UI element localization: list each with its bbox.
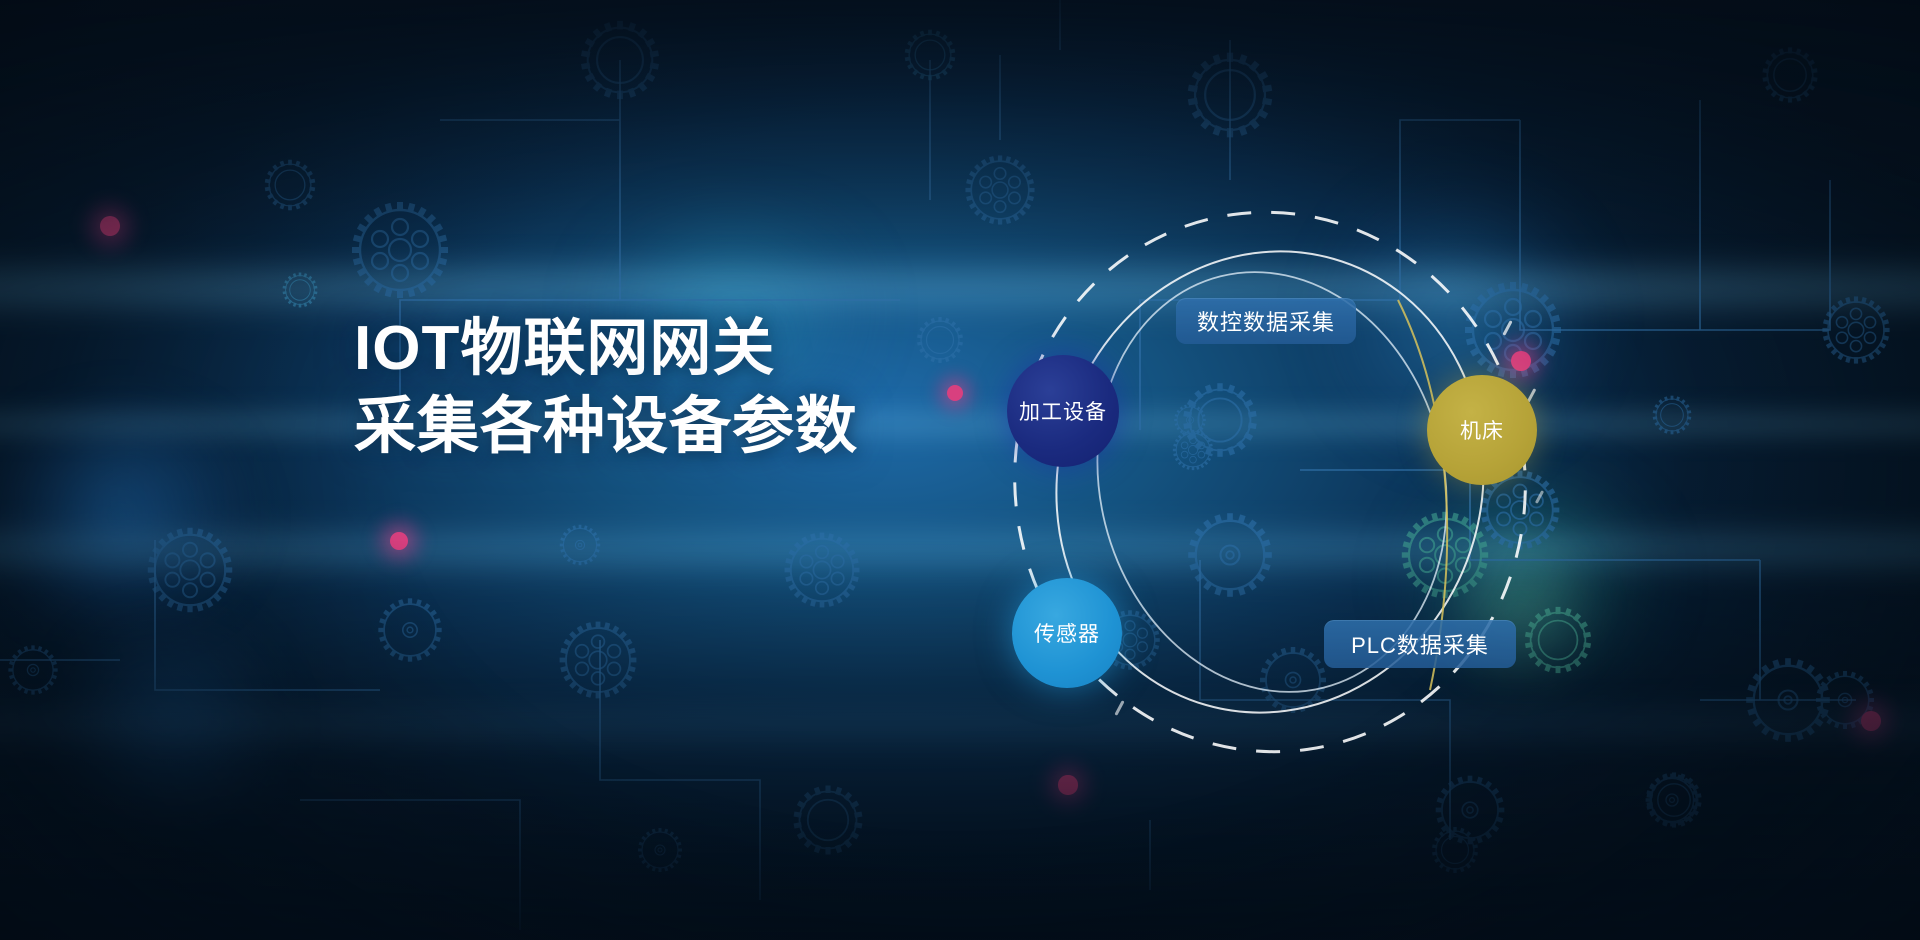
page-title: IOT物联网网关 采集各种设备参数	[354, 310, 858, 466]
orbit-rings	[0, 0, 1920, 940]
chip-label: 数控数据采集	[1197, 305, 1335, 337]
chip-cnc-data-collection[interactable]: 数控数据采集	[1176, 298, 1356, 344]
headline-line-1: IOT物联网网关	[354, 310, 858, 388]
node-label: 传感器	[1034, 618, 1100, 648]
node-machining-equipment[interactable]: 加工设备	[1007, 355, 1119, 467]
node-sensor[interactable]: 传感器	[1012, 578, 1122, 688]
chip-plc-data-collection[interactable]: PLC数据采集	[1324, 620, 1516, 668]
headline-line-2: 采集各种设备参数	[354, 388, 858, 466]
iot-orbit-diagram: 加工设备 传感器 机床 数控数据采集 PLC数据采集	[0, 0, 1920, 940]
node-label: 加工设备	[1019, 396, 1107, 426]
iot-gateway-banner: IOT物联网网关 采集各种设备参数 加工设备 传感器	[0, 0, 1920, 940]
node-machine-tool[interactable]: 机床	[1427, 375, 1537, 485]
chip-label: PLC数据采集	[1351, 628, 1489, 660]
node-label: 机床	[1460, 415, 1504, 445]
